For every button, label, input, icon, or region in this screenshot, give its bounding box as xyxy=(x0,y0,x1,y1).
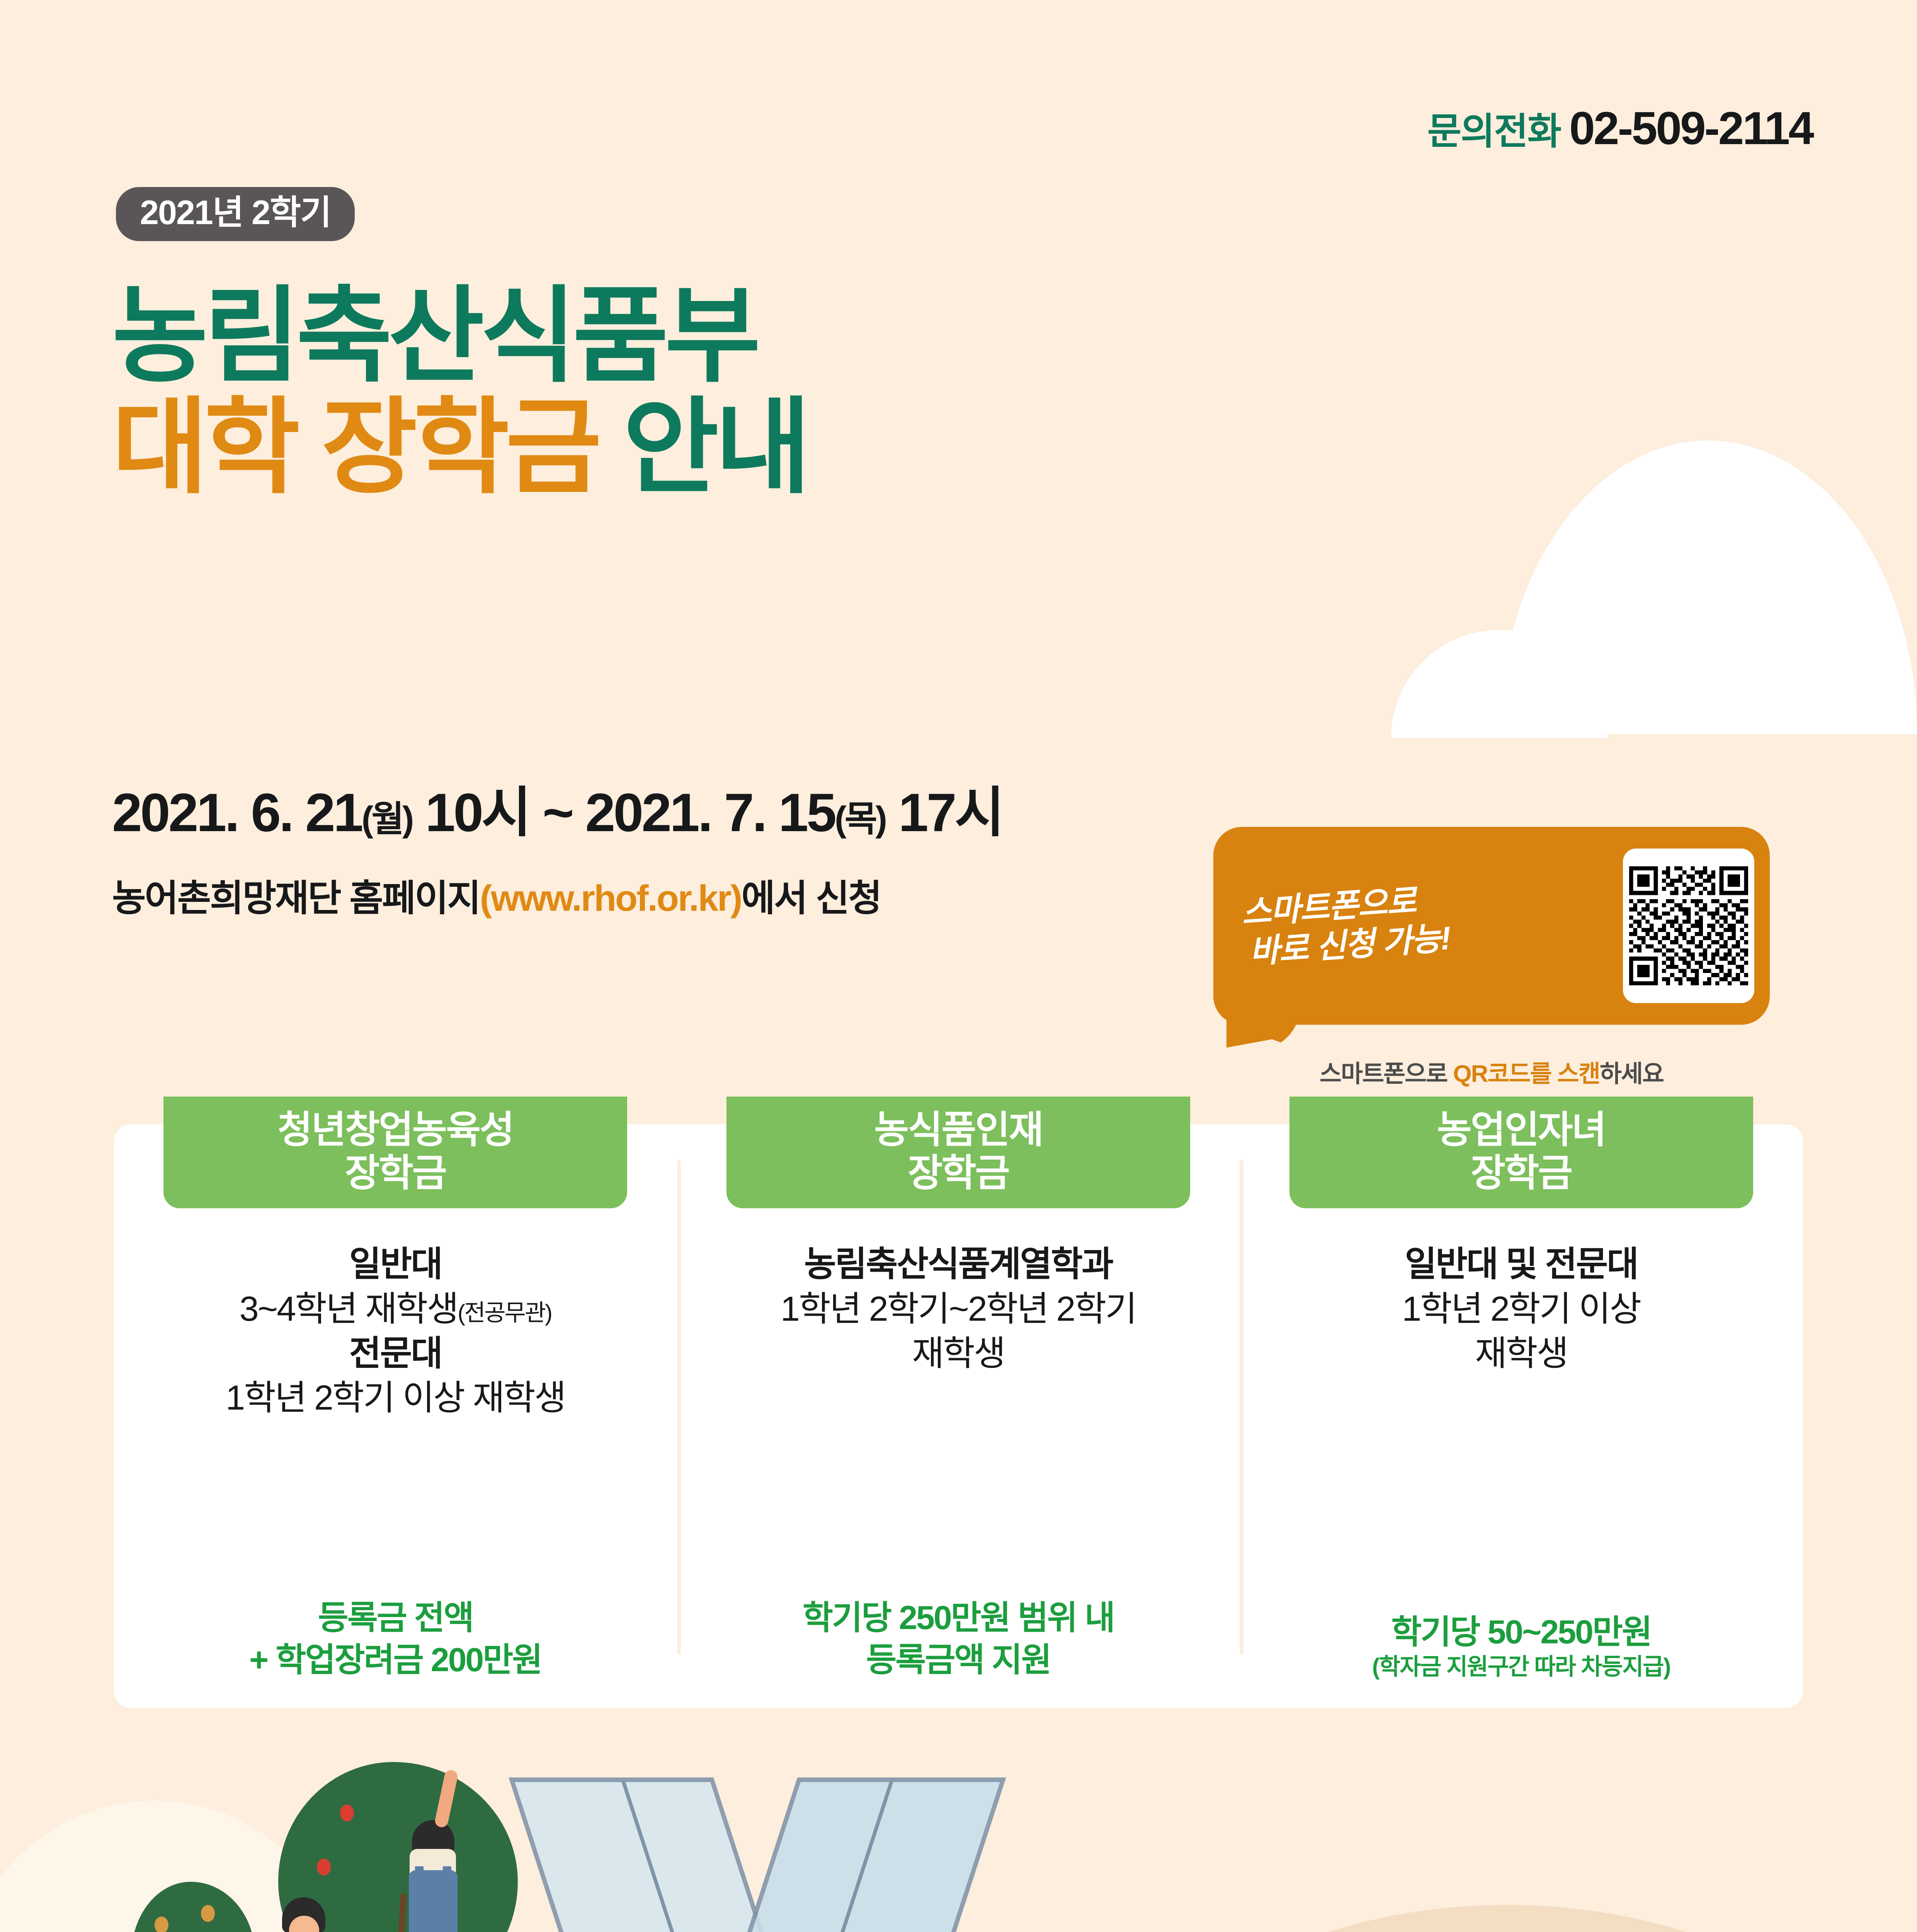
card-body-text: 일반대 xyxy=(349,1245,442,1284)
card-body-text: 재학생 xyxy=(1475,1334,1567,1373)
card-body: 일반대3~4학년 재학생(전공무관)전문대1학년 2학기 이상 재학생 xyxy=(210,1242,580,1420)
period-end-time: 17시 xyxy=(898,782,1003,843)
card-body-text: 1학년 2학기 이상 재학생 xyxy=(226,1379,565,1417)
card-body-text: 1학년 2학기 이상 xyxy=(1402,1290,1640,1328)
scholarship-card: 농업인자녀장학금일반대 및 전문대1학년 2학기 이상재학생학기당 50~250… xyxy=(1240,1124,1803,1708)
semester-badge: 2021년 2학기 xyxy=(116,187,355,241)
card-title-tab: 농식품인재장학금 xyxy=(726,1097,1190,1208)
card-tab-holder: 청년창업농육성장학금 xyxy=(114,1097,677,1208)
card-body-line: 재학생 xyxy=(781,1332,1136,1376)
period-start-day: (월) xyxy=(362,799,412,839)
period-end-day: (목) xyxy=(835,799,885,839)
title-line-2: 대학 장학금 안내 xyxy=(112,397,807,498)
picker-hair xyxy=(412,1820,454,1853)
card-amount-line: 등록금 전액 xyxy=(114,1597,677,1639)
card-body: 농림축산식품계열학과1학년 2학기~2학년 2학기재학생 xyxy=(765,1242,1152,1376)
card-amount-line: + 학업장려금 200만원 xyxy=(114,1639,677,1681)
qr-caption-highlight: QR코드를 스캔 xyxy=(1453,1061,1599,1087)
title-line-2-orange: 대학 장학금 xyxy=(112,389,598,506)
qr-caption-pre: 스마트폰으로 xyxy=(1320,1061,1453,1087)
card-title-line-2: 장학금 xyxy=(163,1151,627,1195)
apple-1 xyxy=(340,1804,354,1821)
apply-prefix: 농어촌희망재단 홈페이지 xyxy=(112,878,480,919)
qr-bubble-text: 스마트폰으로 바로 신청 가능! xyxy=(1226,879,1452,973)
picker-strap-left xyxy=(415,1866,424,1893)
card-title-tab: 농업인자녀장학금 xyxy=(1289,1097,1753,1208)
person-apple-picker xyxy=(398,1812,468,1932)
qr-caption-post: 하세요 xyxy=(1600,1061,1664,1087)
qr-code-icon xyxy=(1629,855,1748,997)
scholarship-cards-panel: 청년창업농육성장학금일반대3~4학년 재학생(전공무관)전문대1학년 2학기 이… xyxy=(114,1124,1803,1708)
person-basket-carrier xyxy=(267,1897,344,1932)
period-end-date: 2021. 7. 15 xyxy=(585,782,835,843)
title-line-1: 농림축산식품부 xyxy=(112,286,807,387)
title-line-2-green: 안내 xyxy=(623,389,807,506)
card-amount-subnote: (학자금 지원구간 따라 차등지급) xyxy=(1240,1653,1803,1681)
card-amount-line: 등록금액 지원 xyxy=(677,1639,1240,1681)
scholarship-card: 농식품인재장학금농림축산식품계열학과1학년 2학기~2학년 2학기재학생학기당 … xyxy=(677,1124,1240,1708)
card-title-line-1: 농식품인재 xyxy=(726,1108,1190,1151)
contact-phone: 문의전화 02-509-2114 xyxy=(1427,101,1813,155)
apply-suffix: 에서 신청 xyxy=(742,878,881,919)
qr-section: 스마트폰으로 바로 신청 가능! xyxy=(1213,827,1770,1089)
card-tab-holder: 농업인자녀장학금 xyxy=(1240,1097,1803,1208)
pear-2 xyxy=(201,1905,215,1922)
greenhouse xyxy=(553,1777,962,1932)
card-title-line-2: 장학금 xyxy=(726,1151,1190,1195)
card-body-line: 1학년 2학기 이상 xyxy=(1402,1287,1640,1332)
contact-number: 02-509-2114 xyxy=(1569,102,1813,155)
apply-url[interactable]: (www.rhof.or.kr) xyxy=(480,878,742,919)
period-start-time: 10시 xyxy=(425,782,529,843)
qr-caption: 스마트폰으로 QR코드를 스캔하세요 xyxy=(1213,1054,1770,1089)
card-body: 일반대 및 전문대1학년 2학기 이상재학생 xyxy=(1386,1242,1656,1376)
scholarship-card: 청년창업농육성장학금일반대3~4학년 재학생(전공무관)전문대1학년 2학기 이… xyxy=(114,1124,677,1708)
pear-tree xyxy=(131,1882,255,1932)
card-amount: 학기당 50~250만원(학자금 지원구간 따라 차등지급) xyxy=(1240,1611,1803,1708)
period-tilde: ~ xyxy=(529,782,585,843)
card-amount: 등록금 전액+ 학업장려금 200만원 xyxy=(114,1597,677,1708)
card-amount-line: 학기당 50~250만원 xyxy=(1240,1611,1803,1653)
card-body-note: (전공무관) xyxy=(458,1300,551,1326)
card-body-text: 전문대 xyxy=(349,1334,442,1373)
farm-illustration xyxy=(0,1712,1917,1932)
card-body-line: 농림축산식품계열학과 xyxy=(781,1242,1136,1287)
pear-tree-crown xyxy=(131,1882,255,1932)
card-title-tab: 청년창업농육성장학금 xyxy=(163,1097,627,1208)
card-body-text: 1학년 2학기~2학년 2학기 xyxy=(781,1290,1136,1328)
page-title: 농림축산식품부 대학 장학금 안내 xyxy=(112,286,807,498)
card-body-text: 농림축산식품계열학과 xyxy=(804,1245,1112,1284)
card-amount-line: 학기당 250만원 범위 내 xyxy=(677,1597,1240,1639)
poster-canvas: 문의전화 02-509-2114 2021년 2학기 농림축산식품부 대학 장학… xyxy=(0,0,1917,1932)
period-start-date: 2021. 6. 21 xyxy=(112,782,362,843)
picker-strap-right xyxy=(443,1866,451,1893)
card-body-text: 재학생 xyxy=(912,1334,1004,1373)
card-title-line-1: 청년창업농육성 xyxy=(163,1108,627,1151)
card-body-text: 3~4학년 재학생 xyxy=(240,1290,458,1328)
qr-code[interactable] xyxy=(1623,849,1754,1003)
card-body-line: 1학년 2학기~2학년 2학기 xyxy=(781,1287,1136,1332)
contact-label: 문의전화 xyxy=(1427,101,1561,155)
card-body-line: 일반대 및 전문대 xyxy=(1402,1242,1640,1287)
card-body-line: 1학년 2학기 이상 재학생 xyxy=(226,1376,565,1420)
application-period: 2021. 6. 21(월) 10시 ~ 2021. 7. 15(목) 17시 xyxy=(112,769,1003,847)
pear-1 xyxy=(155,1917,168,1932)
card-amount: 학기당 250만원 범위 내등록금액 지원 xyxy=(677,1597,1240,1708)
card-body-line: 재학생 xyxy=(1402,1332,1640,1376)
card-title-line-1: 농업인자녀 xyxy=(1289,1108,1753,1151)
card-title-line-2: 장학금 xyxy=(1289,1151,1753,1195)
card-body-line: 전문대 xyxy=(226,1332,565,1376)
apply-instruction: 농어촌희망재단 홈페이지(www.rhof.or.kr)에서 신청 xyxy=(112,869,881,922)
apple-2 xyxy=(317,1859,331,1876)
qr-speech-bubble: 스마트폰으로 바로 신청 가능! xyxy=(1213,827,1770,1025)
card-body-line: 3~4학년 재학생(전공무관) xyxy=(226,1287,565,1332)
card-tab-holder: 농식품인재장학금 xyxy=(677,1097,1240,1208)
card-body-text: 일반대 및 전문대 xyxy=(1405,1245,1638,1284)
card-body-line: 일반대 xyxy=(226,1242,565,1287)
